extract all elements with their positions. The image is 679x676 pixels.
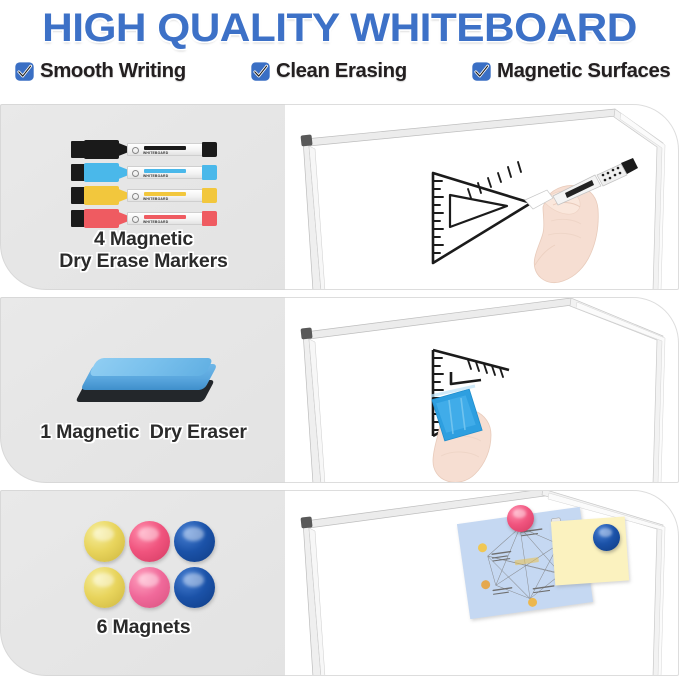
feature-list: Smooth Writing Clean Erasing Magnetic Su… [0,54,679,83]
magnetic-dry-eraser [79,358,211,406]
eraser-top-surface [88,358,214,376]
marker-grip [84,140,119,159]
marker-brand-text: WHITEBOARD [143,151,168,155]
marker-cap [71,141,85,158]
marker-color-band [144,192,186,196]
check-badge-icon [471,61,492,82]
marker-grip [84,209,119,228]
section-magnets: 6 Magnets [0,490,679,676]
marker-blue: WHITEBOARD [71,164,219,181]
marker-tail [202,142,217,157]
product-caption: 1 Magnetic Dry Eraser [0,422,285,444]
product-panel-magnets: 6 Magnets [0,490,285,676]
marker-black: WHITEBOARD [71,141,219,158]
feature-item-smooth-writing: Smooth Writing [14,60,183,83]
marker-barrel: WHITEBOARD [127,212,203,225]
marker-grip [84,186,119,205]
marker-cap [71,210,85,227]
whiteboard-illustration [285,298,679,483]
marker-yellow: WHITEBOARD [71,187,219,204]
marker-cap [71,187,85,204]
marker-logo-icon [132,170,139,177]
marker-tail [202,165,217,180]
feature-item-magnetic-surfaces: Magnetic Surfaces [471,60,667,83]
page-title: HIGH QUALITY WHITEBOARD [0,0,679,54]
scene-panel-magnets [285,490,679,676]
marker-grip [84,163,119,182]
magnet-pink [129,521,170,562]
sticky-note [551,516,629,585]
magnet-pink-on-board [507,505,534,532]
check-badge-icon [250,61,271,82]
marker-tail [202,188,217,203]
check-badge-icon [14,61,35,82]
marker-tail [202,211,217,226]
marker-color-band [144,215,186,219]
whiteboard-illustration [285,105,679,290]
marker-barrel: WHITEBOARD [127,189,203,202]
magnet-blue [174,521,215,562]
header-banner: HIGH QUALITY WHITEBOARD Smooth Writing C… [0,0,679,98]
product-caption: 4 Magnetic Dry Erase Markers [0,229,285,273]
marker-barrel: WHITEBOARD [127,166,203,179]
magnet-blue [174,567,215,608]
section-markers: WHITEBOARD WHITEBOARD [0,104,679,290]
marker-color-band [144,169,186,173]
markers-group: WHITEBOARD WHITEBOARD [71,141,219,227]
product-panel-eraser: 1 Magnetic Dry Eraser [0,297,285,483]
feature-label: Magnetic Surfaces [497,60,670,83]
magnet-blue-on-board [593,524,620,551]
whiteboard-scene [285,298,678,482]
feature-item-clean-erasing: Clean Erasing [250,60,404,83]
magnet-yellow [84,521,125,562]
product-caption: 6 Magnets [0,617,285,639]
feature-label: Smooth Writing [40,60,186,83]
section-eraser: 1 Magnetic Dry Eraser [0,297,679,483]
marker-logo-icon [132,216,139,223]
scene-panel-writing [285,104,679,290]
marker-color-band [144,146,186,150]
marker-barrel: WHITEBOARD [127,143,203,156]
marker-red: WHITEBOARD [71,210,219,227]
whiteboard-scene [285,105,678,289]
marker-brand-text: WHITEBOARD [143,197,168,201]
magnets-group [84,521,215,608]
scene-panel-erasing [285,297,679,483]
marker-logo-icon [132,147,139,154]
marker-cap [71,164,85,181]
product-panel-markers: WHITEBOARD WHITEBOARD [0,104,285,290]
marker-brand-text: WHITEBOARD [143,220,168,224]
whiteboard-scene [285,491,678,675]
marker-brand-text: WHITEBOARD [143,174,168,178]
marker-logo-icon [132,193,139,200]
magnet-yellow [84,567,125,608]
feature-label: Clean Erasing [276,60,407,83]
magnet-pink [129,567,170,608]
